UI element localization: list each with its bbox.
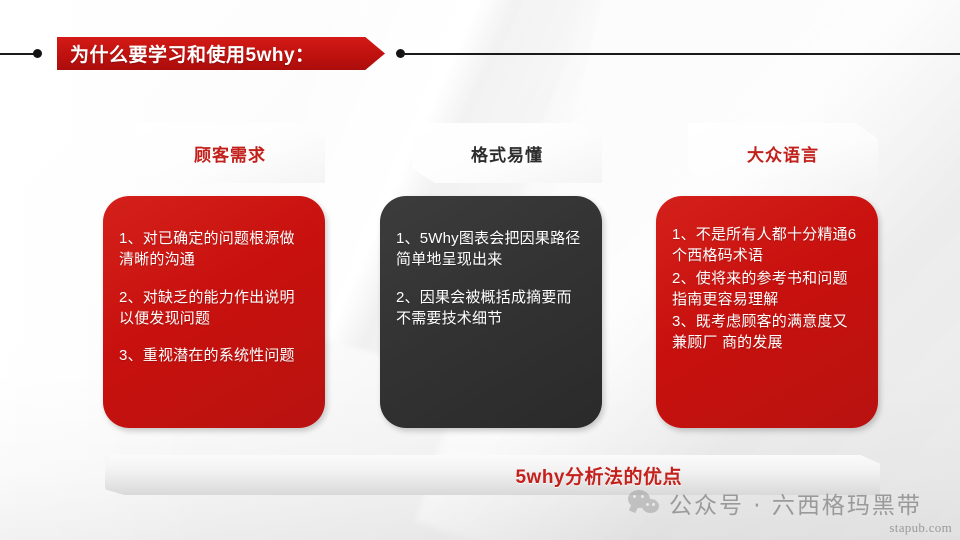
watermark-text: 公众号 · 六西格玛黑带 <box>669 486 922 520</box>
column-1: 顾客需求 <box>135 123 325 183</box>
header-rule-right <box>402 53 960 55</box>
wechat-icon <box>628 490 662 516</box>
column-1-item-1: 1、对已确定的问题根源做清晰的沟通 <box>119 228 309 271</box>
column-3: 大众语言 <box>688 123 878 183</box>
page-title-banner: 为什么要学习和使用5why： <box>57 37 385 70</box>
header-dot-left <box>33 49 42 58</box>
column-1-body-card[interactable]: 1、对已确定的问题根源做清晰的沟通 2、对缺乏的能力作出说明以便发现问题 3、重… <box>103 196 325 428</box>
column-2-body-card[interactable]: 1、5Why图表会把因果路径简单地呈现出来 2、因果会被概括成摘要而不需要技术细… <box>380 196 602 428</box>
column-3-item-1: 1、不是所有人都十分精通6个西格码术语 <box>672 224 862 267</box>
watermark: 公众号 · 六西格玛黑带 <box>628 486 922 520</box>
column-1-header-label: 顾客需求 <box>194 141 266 166</box>
column-3-item-3: 3、既考虑顾客的满意度又兼顾厂 商的发展 <box>672 311 862 354</box>
column-3-header-card[interactable]: 大众语言 <box>688 123 878 183</box>
column-1-header-card[interactable]: 顾客需求 <box>135 123 325 183</box>
header-rule-left <box>0 53 36 55</box>
slide-canvas: 为什么要学习和使用5why： 顾客需求 格式易懂 大众语言 1、对已确定的问题根… <box>0 0 960 540</box>
column-2-item-2: 2、因果会被概括成摘要而不需要技术细节 <box>396 287 586 330</box>
column-2: 格式易懂 <box>412 123 602 183</box>
column-1-item-2: 2、对缺乏的能力作出说明以便发现问题 <box>119 287 309 330</box>
column-2-header-card[interactable]: 格式易懂 <box>412 123 602 183</box>
page-title: 为什么要学习和使用5why： <box>57 40 315 67</box>
column-2-header-label: 格式易懂 <box>471 141 543 166</box>
watermark-url: stapub.com <box>889 520 952 536</box>
column-3-item-2: 2、使将来的参考书和问题指南更容易理解 <box>672 268 862 311</box>
column-1-item-3: 3、重视潜在的系统性问题 <box>119 345 309 366</box>
column-2-item-1: 1、5Why图表会把因果路径简单地呈现出来 <box>396 228 586 271</box>
column-3-header-label: 大众语言 <box>747 141 819 166</box>
bottom-banner-label: 5why分析法的优点 <box>515 462 880 489</box>
column-3-body-card[interactable]: 1、不是所有人都十分精通6个西格码术语 2、使将来的参考书和问题指南更容易理解 … <box>656 196 878 428</box>
